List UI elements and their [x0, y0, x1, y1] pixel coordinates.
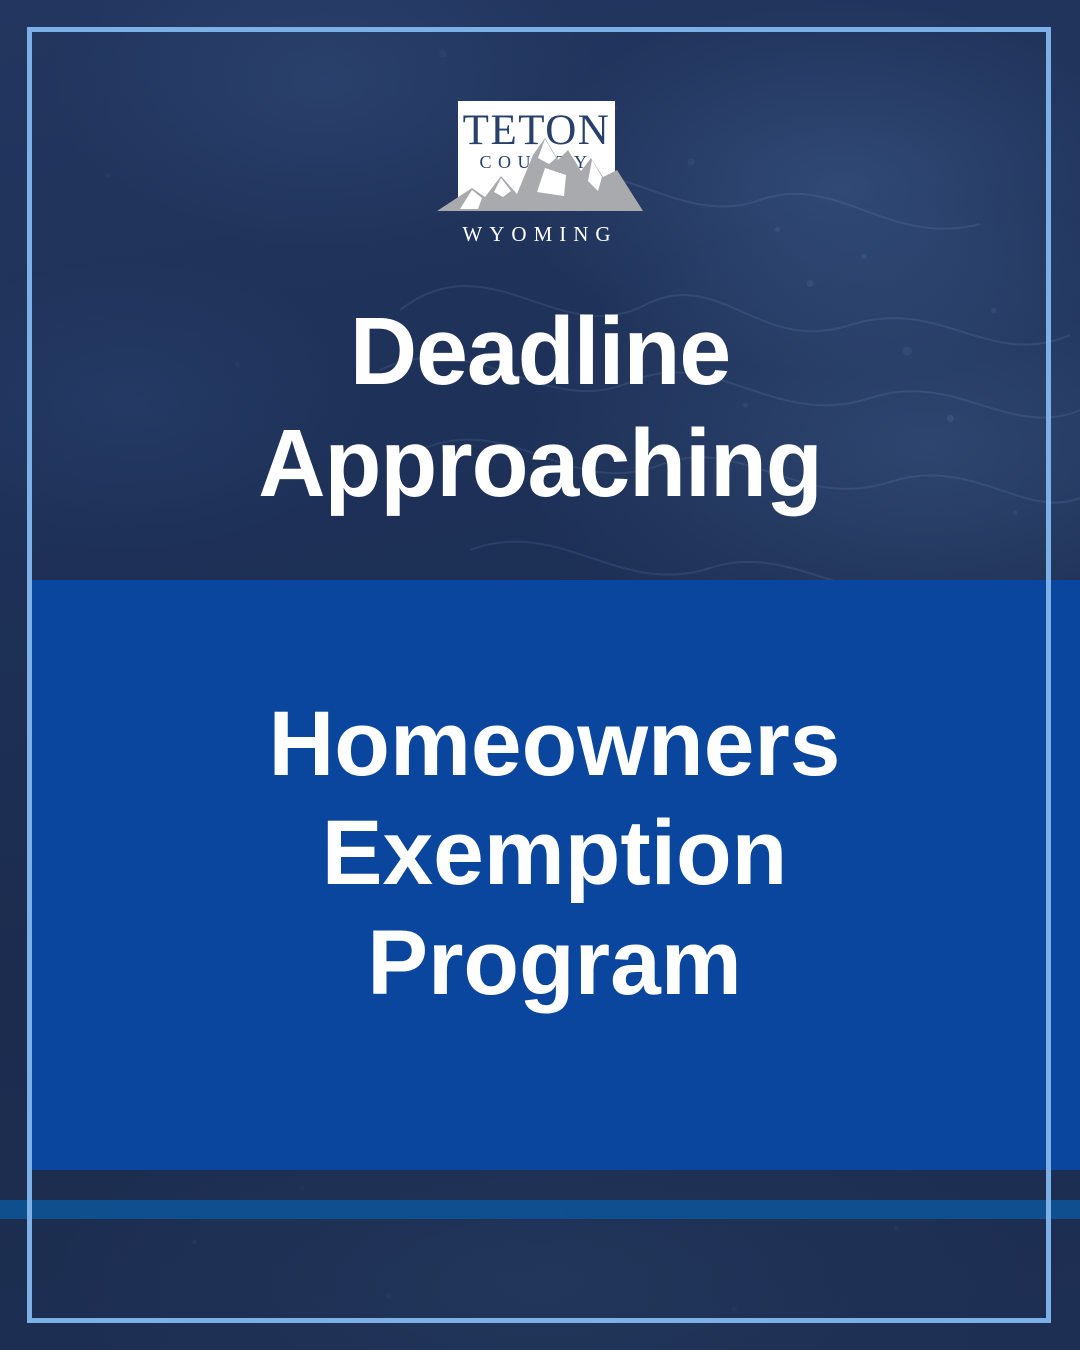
teton-county-wyoming-logo: TETON COUNTY WYOMING — [425, 98, 655, 250]
subhead-line-2: Exemption — [34, 799, 1074, 908]
poster-canvas: TETON COUNTY WYOMING Deadline Approachin… — [0, 0, 1080, 1350]
subhead: Homeowners Exemption Program — [34, 690, 1074, 1018]
headline-line-1: Deadline — [16, 296, 1064, 408]
headline-line-2: Approaching — [16, 408, 1064, 520]
accent-stripe — [0, 1200, 1080, 1219]
logo-word-teton: TETON — [463, 107, 611, 154]
subhead-line-3: Program — [34, 909, 1074, 1018]
headline: Deadline Approaching — [16, 296, 1064, 521]
logo-word-wyoming: WYOMING — [462, 222, 617, 246]
subhead-line-1: Homeowners — [34, 690, 1074, 799]
